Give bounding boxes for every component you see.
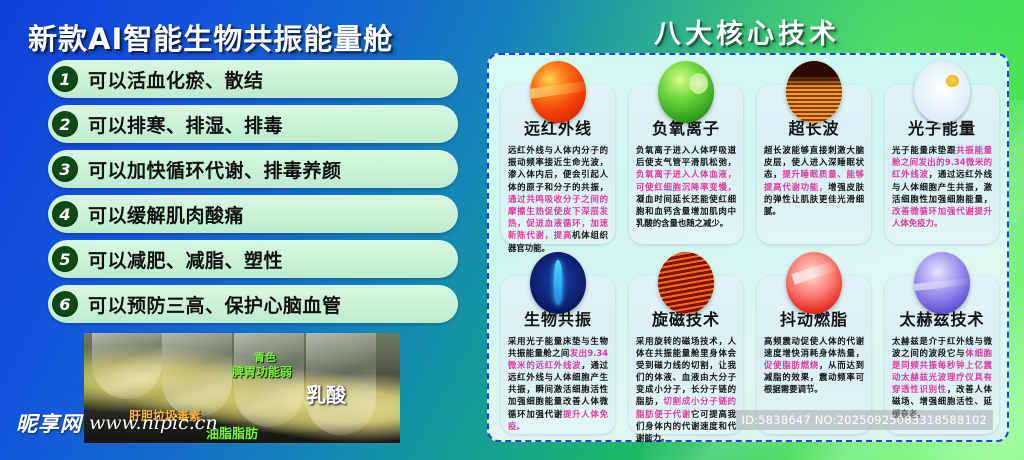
page-title: 新款AI智能生物共振能量舱 [28, 16, 393, 58]
list-item: 3 可以加快循环代谢、排毒养颜 [48, 150, 458, 188]
card-description: 采用旋转的磁场技术，人体在共振能量舱里身体会受到磁力线的切割，让我们的体液、血液… [636, 335, 736, 445]
watermark-url: www.nipic.cn [89, 412, 218, 434]
list-item: 6 可以预防三高、保护心脑血管 [48, 285, 458, 323]
benefit-label: 可以减肥、减脂、塑性 [88, 246, 283, 273]
bag-shape [92, 333, 162, 399]
bio-resonance-body-icon [530, 252, 586, 314]
card-description: 超长波能够直接刺激大脑皮层，使人进入深睡眠状态，提升睡眠质量、能够提高代谢功能，… [764, 144, 864, 217]
left-column: 新款AI智能生物共振能量舱 1 可以活血化瘀、散结 2 可以排寒、排湿、排毒 3… [0, 0, 480, 460]
rotating-magnet-sphere-icon [658, 252, 714, 314]
benefit-number-badge: 4 [52, 201, 78, 227]
ultralong-wave-sphere-icon [786, 61, 842, 123]
card-description: 太赫兹是介于红外线与微波之间的波段它与体细胞是同频共振每秒钟上亿震动太赫兹光波理… [892, 335, 992, 420]
photo-label-piwei: 脾胃功能弱 [232, 363, 292, 380]
tech-card-far-infrared[interactable]: 远红外线 远红外线与人体内分子的振动频率接近生命光波，渗入体内后，便会引起人体的… [495, 61, 621, 248]
tech-card-negative-oxygen-ion[interactable]: 负氧离子 负氧离子进入人体呼吸道后使支气管平滑肌松弛，负氧离子进入人体血液，可使… [623, 61, 749, 248]
watermark: 昵享网 www.nipic.cn [16, 408, 218, 438]
tech-card-grid: 远红外线 远红外线与人体内分子的振动频率接近生命光波，渗入体内后，便会引起人体的… [495, 61, 1005, 438]
card-description: 高频震动促使人体的代谢速度增快消耗身体热量，促使脂肪燃烧，从而达到减脂的效果，震… [764, 335, 864, 396]
infrared-sphere-icon [530, 61, 586, 123]
tech-card-rotating-magnetic[interactable]: 旋磁技术 采用旋转的磁场技术，人体在共振能量舱里身体会受到磁力线的切割，让我们的… [623, 252, 749, 439]
photo-label-rusuan: 乳酸 [306, 379, 346, 408]
benefit-label: 可以加快循环代谢、排毒养颜 [88, 156, 342, 183]
tech-card-ultra-long-wave[interactable]: 超长波 超长波能够直接刺激大脑皮层，使人进入深睡眠状态，提升睡眠质量、能够提高代… [751, 61, 877, 248]
terahertz-sphere-icon [914, 252, 970, 314]
vibration-fat-burn-sphere-icon [786, 252, 842, 314]
list-item: 5 可以减肥、减脂、塑性 [48, 240, 458, 278]
benefit-label: 可以缓解肌肉酸痛 [88, 201, 244, 228]
benefit-label: 可以排寒、排湿、排毒 [88, 111, 283, 138]
bag-shape [234, 333, 304, 427]
list-item: 2 可以排寒、排湿、排毒 [48, 105, 458, 143]
poster-root: 新款AI智能生物共振能量舱 1 可以活血化瘀、散结 2 可以排寒、排湿、排毒 3… [0, 0, 1024, 460]
tech-card-photon-energy[interactable]: 光子能量 光子能量床垫跟共振能量舱之间发出的9.34微米的红外线波，通过远红外线… [879, 61, 1005, 248]
benefit-label: 可以活血化瘀、散结 [88, 66, 264, 93]
image-id-strip: ID:5838647 NO:20250925083318588102 [736, 410, 993, 430]
photon-energy-sphere-icon [914, 61, 970, 123]
benefit-number-badge: 5 [52, 246, 78, 272]
benefit-list: 1 可以活血化瘀、散结 2 可以排寒、排湿、排毒 3 可以加快循环代谢、排毒养颜… [48, 60, 458, 330]
anion-sphere-icon [658, 61, 714, 123]
bag-shape [162, 333, 232, 417]
card-description: 远红外线与人体内分子的振动频率接近生命光波，渗入体内后，便会引起人体的原子和分子… [508, 144, 608, 254]
list-item: 4 可以缓解肌肉酸痛 [48, 195, 458, 233]
benefit-number-badge: 2 [52, 111, 78, 137]
tech-panel: 远红外线 远红外线与人体内分子的振动频率接近生命光波，渗入体内后，便会引起人体的… [487, 53, 1009, 442]
benefit-label: 可以预防三高、保护心脑血管 [88, 291, 342, 318]
card-description: 采用光子能量床垫与生物共振能量舱之间发出9.34微米的远红外线波，通过远红外线与… [508, 335, 608, 433]
benefit-number-badge: 1 [52, 66, 78, 92]
card-description: 光子能量床垫跟共振能量舱之间发出的9.34微米的红外线波，通过远红外线与人体细胞… [892, 144, 992, 229]
watermark-brand: 昵享网 [16, 408, 82, 438]
benefit-number-badge: 3 [52, 156, 78, 182]
section-title-eight-technologies: 八大核心技术 [654, 12, 840, 51]
card-description: 负氧离子进入人体呼吸道后使支气管平滑肌松弛，负氧离子进入人体血液，可使红细胞沉降… [636, 144, 736, 229]
tech-card-bio-resonance[interactable]: 生物共振 采用光子能量床垫与生物共振能量舱之间发出9.34微米的远红外线波，通过… [495, 252, 621, 439]
list-item: 1 可以活血化瘀、散结 [48, 60, 458, 98]
benefit-number-badge: 6 [52, 291, 78, 317]
